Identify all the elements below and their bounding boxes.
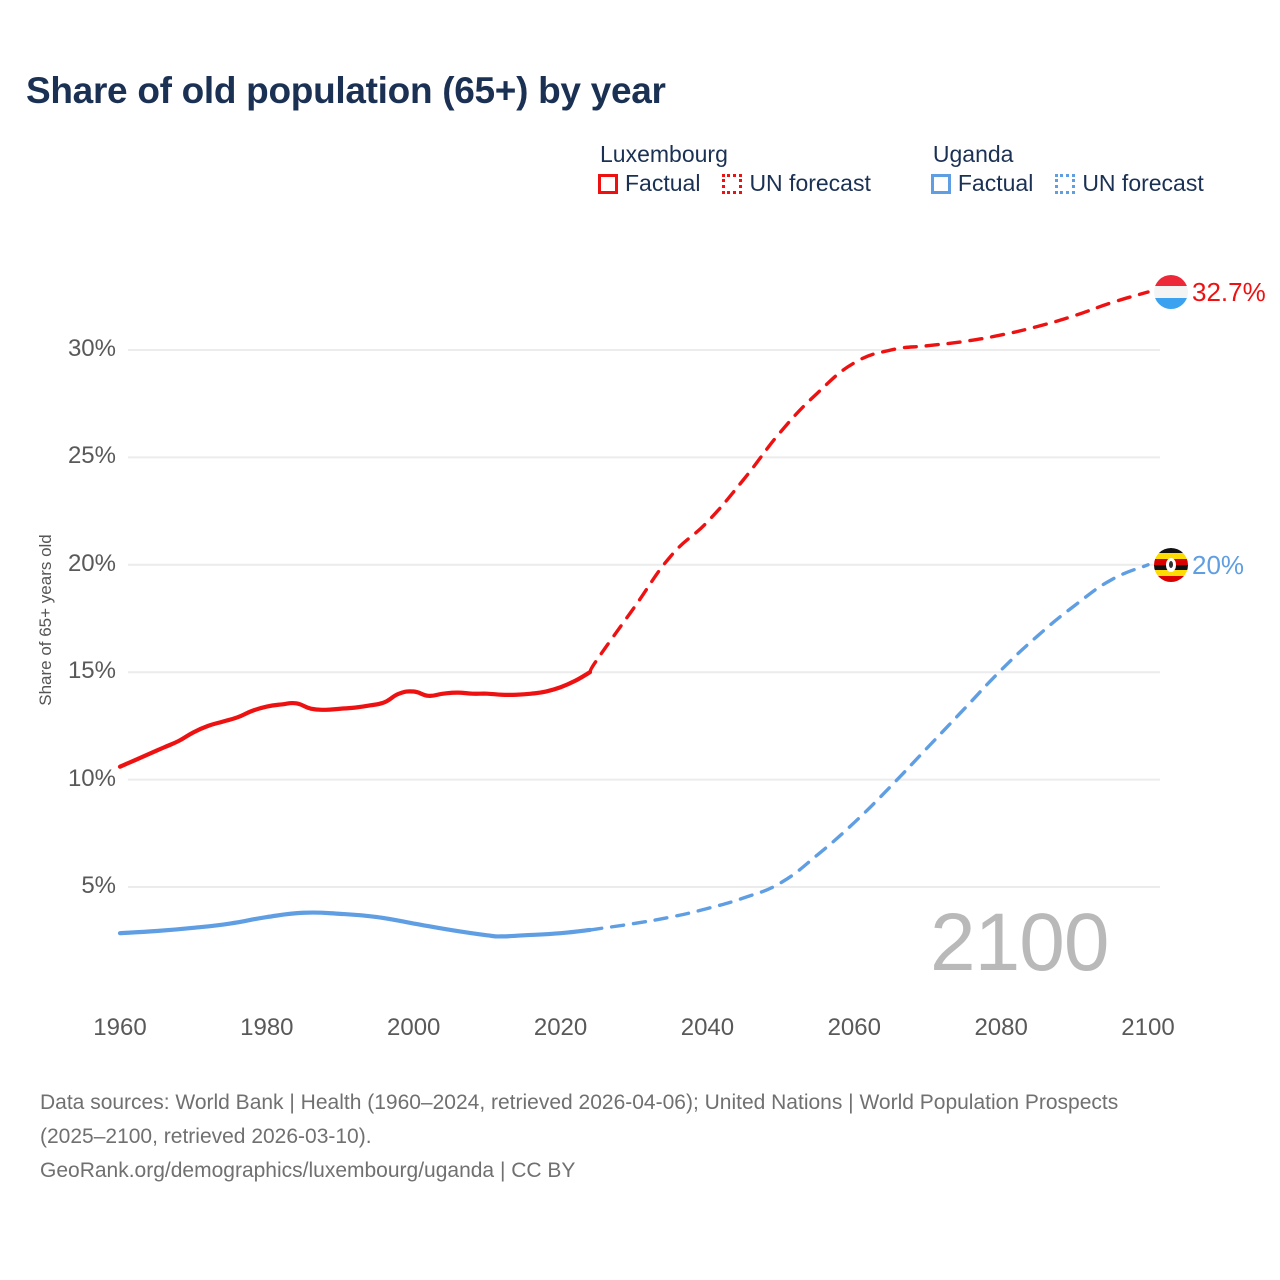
footer-sources: Data sources: World Bank | Health (1960–… (40, 1086, 1180, 1188)
y-axis-title: Share of 65+ years old (36, 510, 56, 730)
x-tick-label: 1960 (65, 1014, 175, 1042)
x-tick-label: 1980 (212, 1014, 322, 1042)
series-line-uganda-forecast (590, 565, 1148, 930)
series-line-uganda-factual (120, 913, 590, 937)
y-tick-label: 10% (36, 765, 116, 793)
end-label-uganda: 20% (1154, 548, 1244, 582)
y-tick-label: 25% (36, 442, 116, 470)
y-tick-label: 30% (36, 335, 116, 363)
y-tick-label: 15% (36, 657, 116, 685)
x-tick-label: 2000 (359, 1014, 469, 1042)
luxembourg-flag-icon (1154, 275, 1188, 309)
uganda-flag-icon (1154, 548, 1188, 582)
x-tick-label: 2060 (799, 1014, 909, 1042)
x-tick-label: 2040 (652, 1014, 762, 1042)
footer-line-1: Data sources: World Bank | Health (1960–… (40, 1086, 1180, 1154)
footer-line-2[interactable]: GeoRank.org/demographics/luxembourg/ugan… (40, 1154, 1180, 1188)
y-tick-label: 20% (36, 550, 116, 578)
y-tick-label: 5% (36, 872, 116, 900)
series-line-luxembourg-factual (120, 672, 590, 767)
end-value-uganda: 20% (1192, 552, 1244, 578)
watermark-year: 2100 (930, 896, 1108, 990)
gridlines (128, 350, 1160, 887)
x-tick-label: 2100 (1093, 1014, 1203, 1042)
end-label-luxembourg: 32.7% (1154, 275, 1266, 309)
series-lines (120, 292, 1148, 936)
chart-page: Share of old population (65+) by year Lu… (0, 0, 1280, 1280)
x-tick-label: 2020 (506, 1014, 616, 1042)
x-tick-label: 2080 (946, 1014, 1056, 1042)
end-value-luxembourg: 32.7% (1192, 279, 1266, 305)
